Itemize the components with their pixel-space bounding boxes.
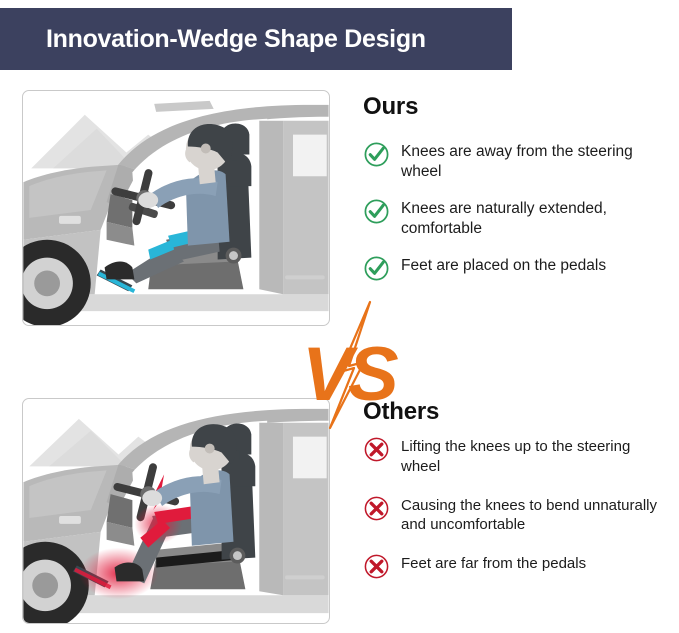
driver-cramped-posture-illustration bbox=[23, 399, 329, 623]
x-circle-icon bbox=[363, 436, 390, 463]
list-item: Causing the knees to bend unnaturally an… bbox=[363, 494, 673, 536]
x-circle-icon bbox=[363, 495, 390, 522]
list-item-label: Knees are naturally extended, comfortabl… bbox=[401, 197, 673, 240]
illustration-ours-frame bbox=[22, 90, 330, 326]
list-item-label: Knees are away from the steering wheel bbox=[401, 140, 673, 183]
illustration-others-frame bbox=[22, 398, 330, 624]
x-circle-icon bbox=[363, 553, 390, 580]
list-item: Feet are placed on the pedals bbox=[363, 254, 673, 282]
list-item: Knees are naturally extended, comfortabl… bbox=[363, 197, 673, 240]
check-circle-icon bbox=[363, 198, 390, 225]
heading-others: Others bbox=[363, 398, 439, 426]
list-item: Feet are far from the pedals bbox=[363, 552, 673, 580]
page-title: Innovation-Wedge Shape Design bbox=[46, 25, 426, 54]
bullet-list-others: Lifting the knees up to the steering whe… bbox=[363, 435, 673, 597]
bullet-list-ours: Knees are away from the steering wheel K… bbox=[363, 140, 673, 296]
check-circle-icon bbox=[363, 141, 390, 168]
list-item-label: Lifting the knees up to the steering whe… bbox=[401, 435, 669, 477]
driver-comfortable-posture-illustration bbox=[23, 91, 329, 325]
list-item-label: Feet are placed on the pedals bbox=[401, 254, 606, 276]
header-banner: Innovation-Wedge Shape Design bbox=[0, 8, 512, 70]
list-item: Lifting the knees up to the steering whe… bbox=[363, 435, 673, 477]
list-item-label: Causing the knees to bend unnaturally an… bbox=[401, 494, 669, 536]
heading-ours: Ours bbox=[363, 93, 418, 121]
list-item-label: Feet are far from the pedals bbox=[401, 552, 586, 574]
check-circle-icon bbox=[363, 255, 390, 282]
list-item: Knees are away from the steering wheel bbox=[363, 140, 673, 183]
